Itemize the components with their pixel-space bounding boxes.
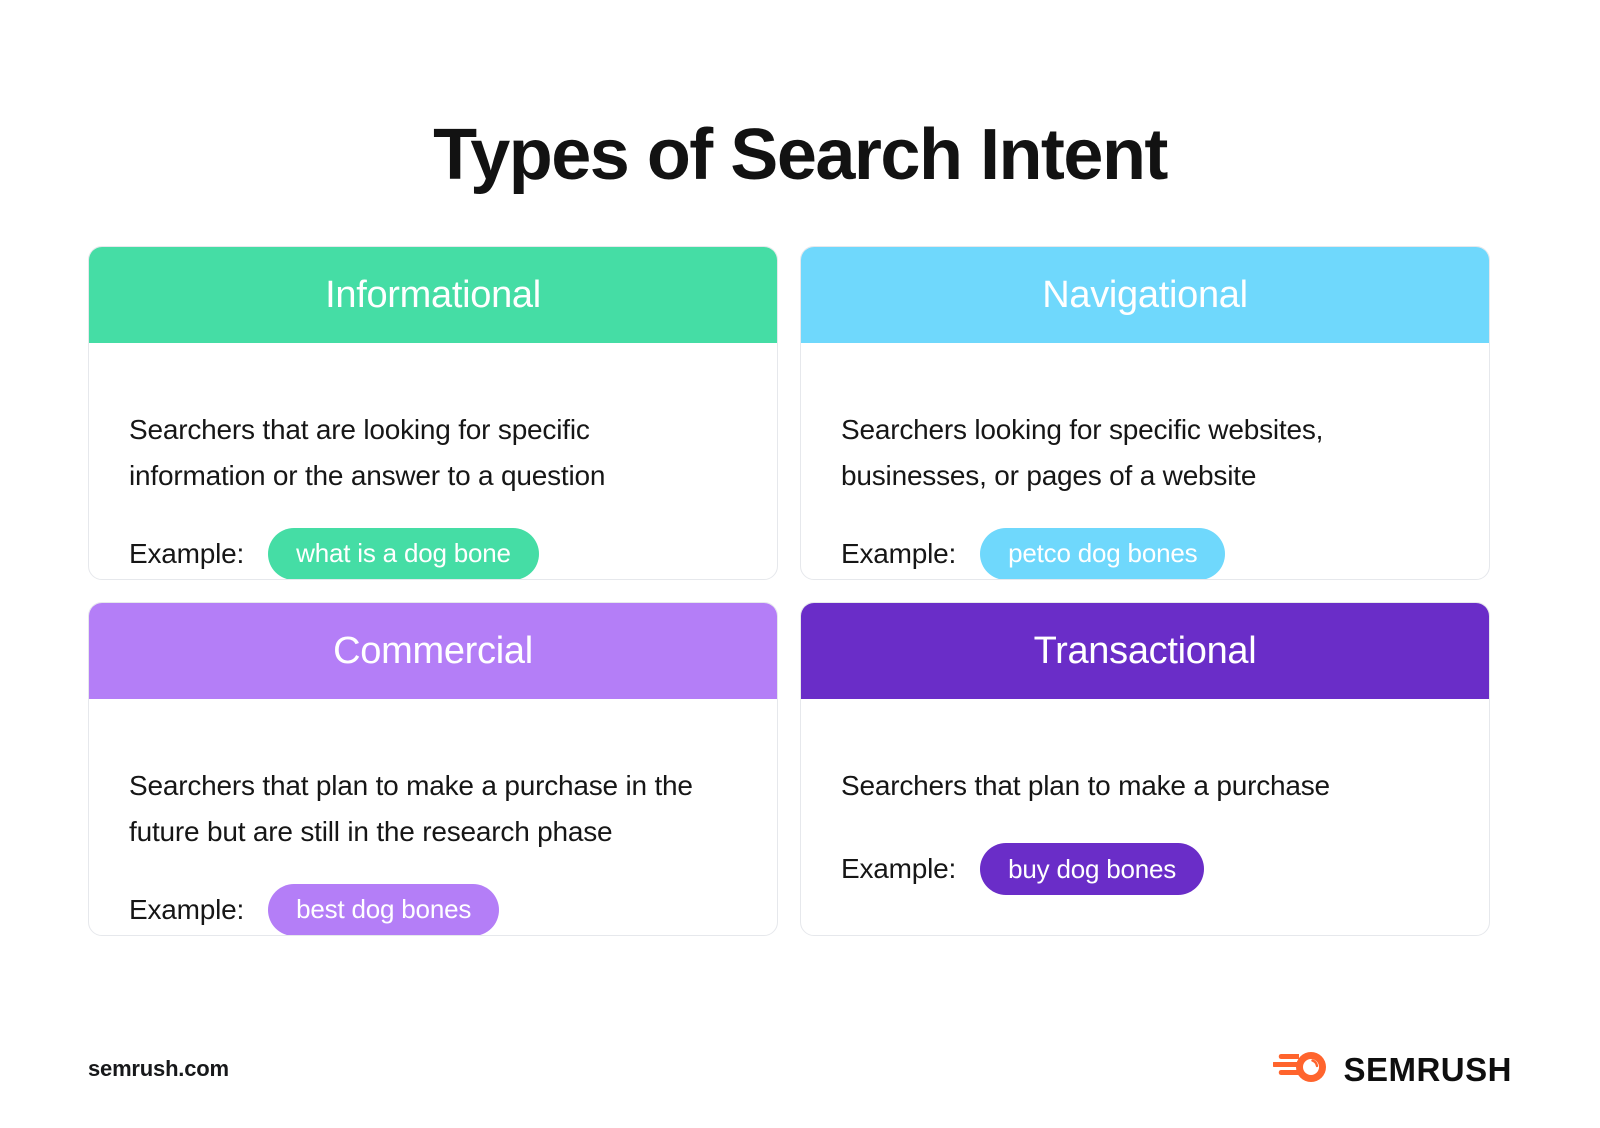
example-pill-navigational: petco dog bones <box>980 528 1225 580</box>
example-pill-commercial: best dog bones <box>268 884 499 936</box>
example-label: Example: <box>129 538 244 570</box>
semrush-comet-icon <box>1273 1047 1331 1092</box>
card-description: Searchers that are looking for specific … <box>129 407 709 500</box>
card-header-label: Navigational <box>1042 274 1248 317</box>
example-row-commercial: Example: best dog bones <box>129 884 737 936</box>
example-pill-transactional: buy dog bones <box>980 843 1204 895</box>
card-header-label: Informational <box>325 274 541 317</box>
footer-url: semrush.com <box>88 1056 229 1082</box>
intent-card-informational: Informational Searchers that are looking… <box>88 246 778 580</box>
card-body-transactional: Searchers that plan to make a purchase E… <box>801 699 1489 935</box>
example-row-informational: Example: what is a dog bone <box>129 528 737 580</box>
intent-card-navigational: Navigational Searchers looking for speci… <box>800 246 1490 580</box>
example-row-transactional: Example: buy dog bones <box>841 843 1449 895</box>
semrush-logo: SEMRUSH <box>1273 1047 1512 1092</box>
card-description: Searchers that plan to make a purchase i… <box>129 763 709 856</box>
page-footer: semrush.com SEMRUSH <box>88 1046 1512 1092</box>
example-row-navigational: Example: petco dog bones <box>841 528 1449 580</box>
card-header-navigational: Navigational <box>801 247 1489 343</box>
card-body-commercial: Searchers that plan to make a purchase i… <box>89 699 777 936</box>
card-body-navigational: Searchers looking for specific websites,… <box>801 343 1489 580</box>
example-pill-informational: what is a dog bone <box>268 528 539 580</box>
intent-card-transactional: Transactional Searchers that plan to mak… <box>800 602 1490 936</box>
card-header-label: Transactional <box>1034 630 1257 673</box>
semrush-wordmark: SEMRUSH <box>1343 1053 1512 1086</box>
page-title: Types of Search Intent <box>0 114 1600 197</box>
card-header-informational: Informational <box>89 247 777 343</box>
intent-card-grid: Informational Searchers that are looking… <box>88 246 1490 936</box>
card-body-informational: Searchers that are looking for specific … <box>89 343 777 580</box>
card-description: Searchers looking for specific websites,… <box>841 407 1421 500</box>
card-description: Searchers that plan to make a purchase <box>841 763 1421 809</box>
example-label: Example: <box>129 894 244 926</box>
card-header-commercial: Commercial <box>89 603 777 699</box>
infographic-page: Types of Search Intent Informational Sea… <box>0 0 1600 1128</box>
card-header-transactional: Transactional <box>801 603 1489 699</box>
card-header-label: Commercial <box>333 630 533 673</box>
intent-card-commercial: Commercial Searchers that plan to make a… <box>88 602 778 936</box>
example-label: Example: <box>841 853 956 885</box>
example-label: Example: <box>841 538 956 570</box>
